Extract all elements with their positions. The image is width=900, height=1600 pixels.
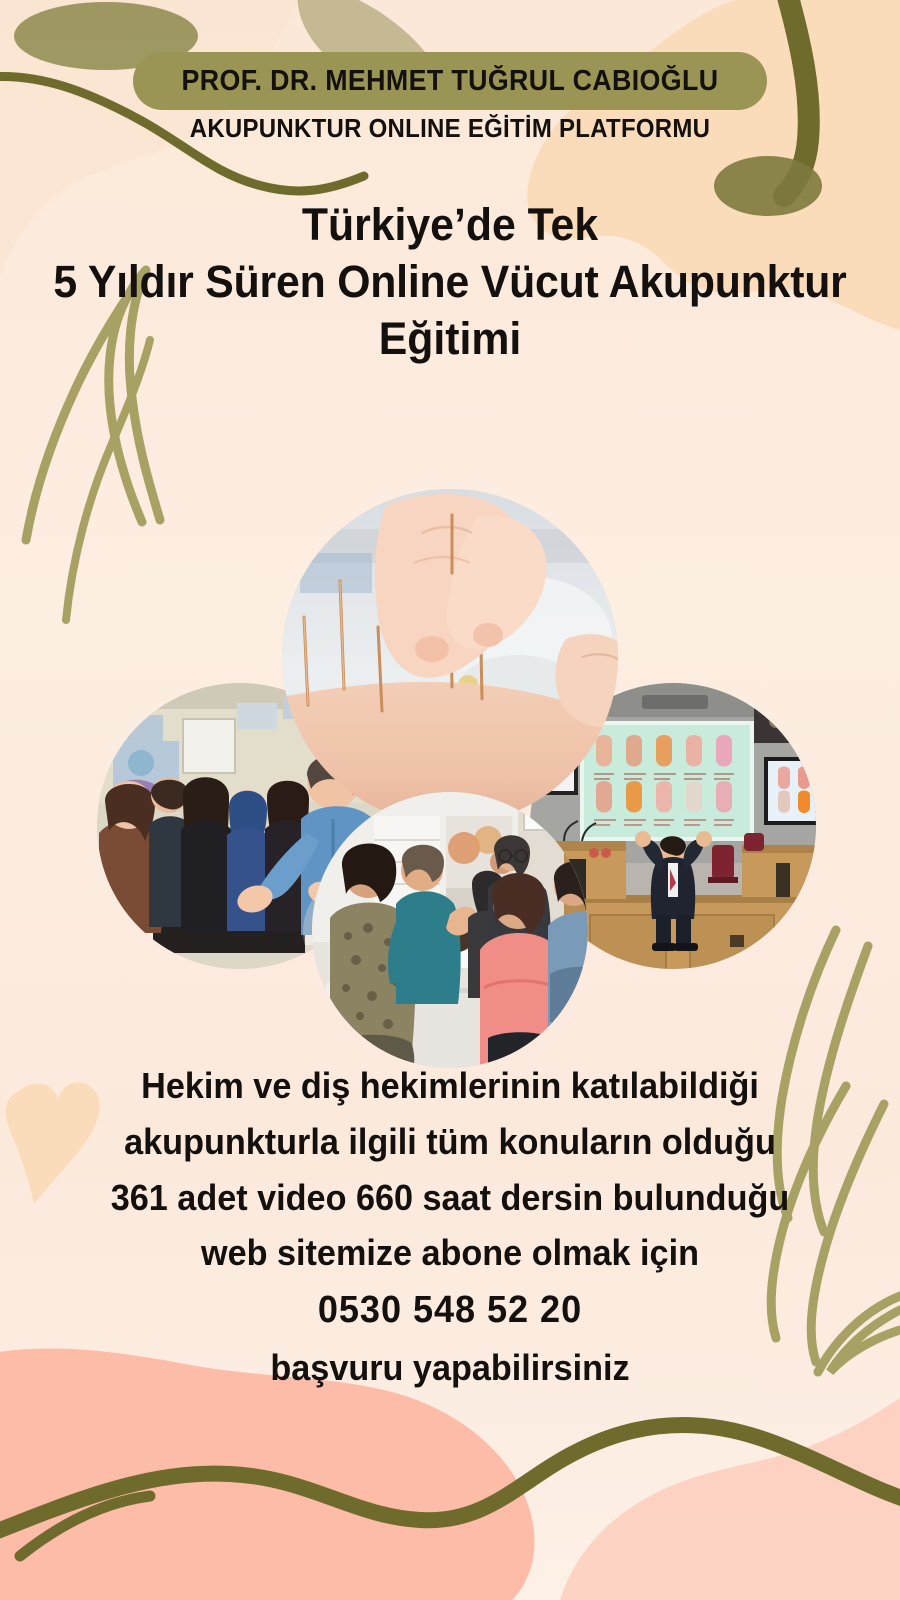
body-line-6: başvuru yapabilirsiniz: [23, 1340, 878, 1396]
salmon-blob-bottom-right: [560, 1368, 900, 1600]
body-line-1: Hekim ve diş hekimlerinin katılabildiği: [23, 1058, 878, 1114]
instructor-name: PROF. DR. MEHMET TUĞRUL CABIOĞLU: [27, 52, 873, 110]
body-line-2: akupunkturla ilgili tüm konuların olduğu: [23, 1114, 878, 1170]
headline-line-3: Eğitimi: [23, 310, 878, 367]
body-line-3: 361 adet video 660 saat dersin bulunduğu: [23, 1170, 878, 1226]
body-line-4: web sitemize abone olmak için: [23, 1225, 878, 1281]
headline-line-1: Türkiye’de Tek: [23, 196, 878, 253]
photo-hands-on-clinical-training: [312, 792, 588, 1068]
headline-block: Türkiye’de Tek 5 Yıldır Süren Online Vüc…: [0, 196, 900, 367]
platform-name: AKUPUNKTUR ONLINE EĞİTİM PLATFORMU: [27, 112, 873, 146]
headline-line-2: 5 Yıldır Süren Online Vücut Akupunktur: [23, 253, 878, 310]
olive-vine-bottom: [0, 1425, 900, 1538]
poster-root: PROF. DR. MEHMET TUĞRUL CABIOĞLU AKUPUNK…: [0, 0, 900, 1600]
body-copy-block: Hekim ve diş hekimlerinin katılabildiği …: [0, 1058, 900, 1396]
photo-collage: [0, 480, 900, 1080]
header-block: PROF. DR. MEHMET TUĞRUL CABIOĞLU AKUPUNK…: [0, 52, 900, 146]
contact-phone-number[interactable]: 0530 548 52 20: [23, 1281, 878, 1340]
photo-acupuncture-needles-closeup: [282, 489, 618, 825]
olive-vine-bottom-left-small: [20, 1496, 150, 1556]
